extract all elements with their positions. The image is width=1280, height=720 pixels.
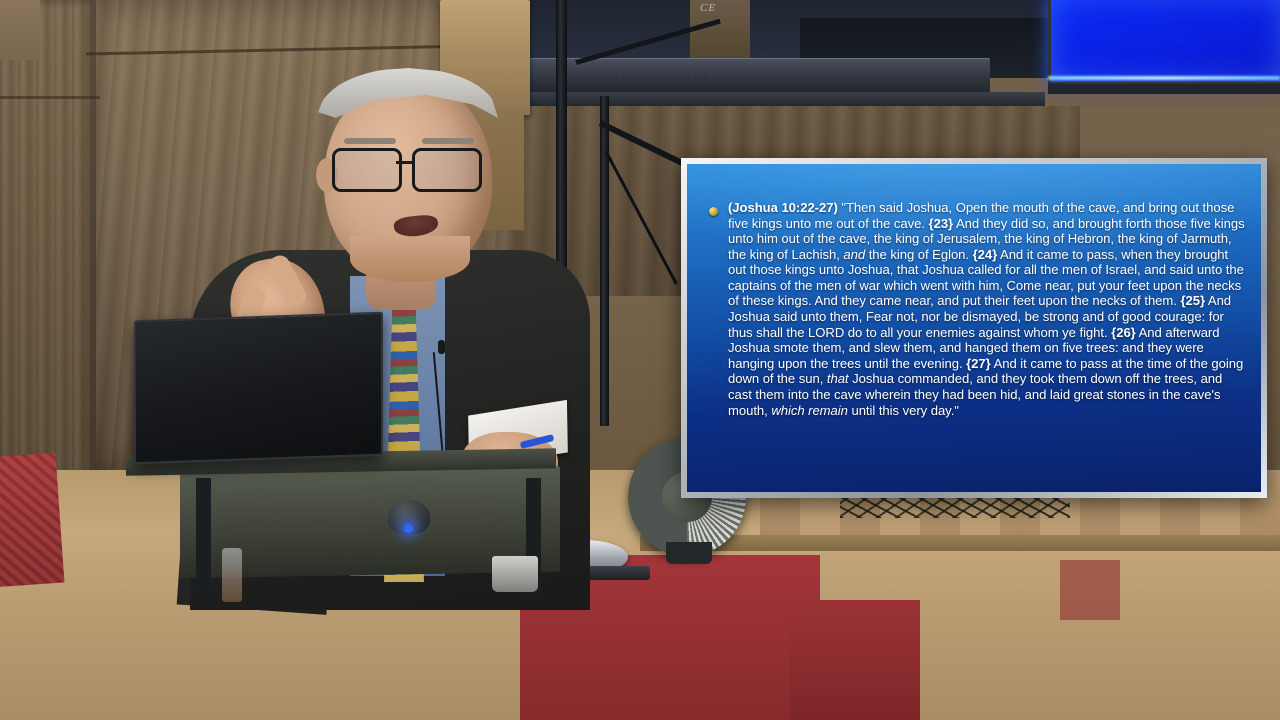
verse-segment: {23} <box>929 216 954 231</box>
verse-segment: the king of Eglon. <box>865 247 972 262</box>
microphone-stand-right <box>600 96 609 426</box>
blue-display-monitor <box>1048 0 1280 85</box>
eyeglasses-icon <box>328 148 490 188</box>
eyeglass-lens-right <box>412 148 482 192</box>
verse-segment: that <box>827 371 849 386</box>
verse-segment: which remain <box>771 403 848 418</box>
panel-seam-secondary <box>0 96 100 99</box>
amplifier-cabinet <box>690 0 750 60</box>
eyebrow-right <box>422 138 474 144</box>
monitor-stand <box>1048 84 1280 94</box>
chin-jaw <box>350 236 470 282</box>
lower-third-graphics: Bethel Church Service info@visitbethelch… <box>0 470 1280 720</box>
livestream-frame: CE · · · · · · · <box>0 0 1280 720</box>
eyeglass-lens-left <box>332 148 402 192</box>
verse-segment: {24} <box>973 247 998 262</box>
keyboard-key-marks: · · · · · · · <box>600 72 860 80</box>
verse-segment: {26} <box>1111 325 1136 340</box>
verse-segment: {25} <box>1180 293 1205 308</box>
laptop-monitor <box>134 312 383 465</box>
slide-content: (Joshua 10:22-27) "Then said Joshua, Ope… <box>709 200 1247 418</box>
lapel-microphone <box>438 340 445 354</box>
verse-segment: until this very day." <box>848 403 959 418</box>
verse-segment: (Joshua 10:22-27) <box>728 200 838 215</box>
verse-segment: and <box>843 247 865 262</box>
eyebrow-left <box>344 138 396 144</box>
wood-panel-left-upper <box>0 0 40 60</box>
scripture-verse-text: (Joshua 10:22-27) "Then said Joshua, Ope… <box>728 200 1247 418</box>
amplifier-brand-text: CE <box>700 2 716 14</box>
gold-bullet-icon <box>709 207 718 216</box>
monitor-glow-edge <box>1048 76 1280 80</box>
eyeglass-bridge <box>396 161 414 164</box>
wood-panel-left <box>0 0 96 500</box>
presentation-slide[interactable]: (Joshua 10:22-27) "Then said Joshua, Ope… <box>681 158 1267 498</box>
verse-segment: {27} <box>966 356 991 371</box>
